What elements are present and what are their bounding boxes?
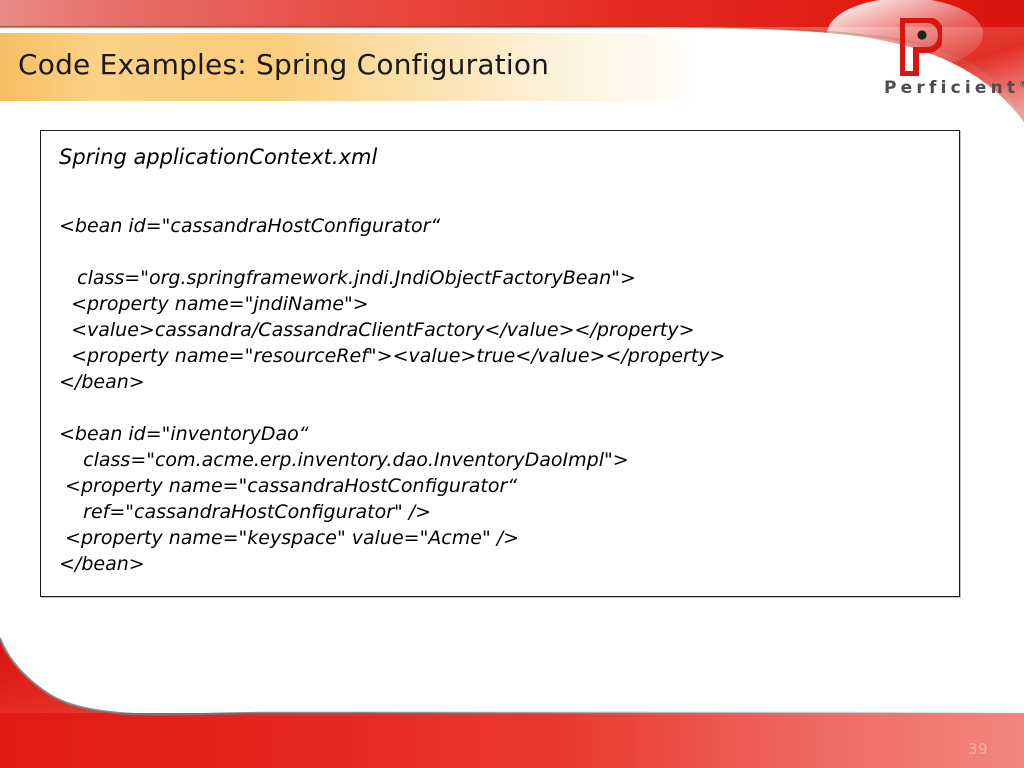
code-line: </bean> — [59, 551, 945, 577]
logo-wordmark-text: Perficient — [884, 78, 1019, 98]
code-box-heading: Spring applicationContext.xml — [59, 145, 945, 169]
page-number: 39 — [968, 740, 988, 758]
logo-wordmark: Perficient® — [884, 78, 1006, 98]
code-box-inner: Spring applicationContext.xml <bean id="… — [41, 131, 959, 596]
code-line — [59, 395, 945, 421]
code-line: <property name="resourceRef"><value>true… — [59, 343, 945, 369]
code-line: <property name="keyspace" value="Acme" /… — [59, 525, 945, 551]
code-line: class="org.springframework.jndi.JndiObje… — [59, 265, 945, 291]
code-line: <bean id="cassandraHostConfigurator“ — [59, 213, 945, 239]
bottom-decoration: 39 — [0, 623, 1024, 768]
logo-trademark: ® — [1019, 79, 1024, 88]
code-line: <property name="cassandraHostConfigurato… — [59, 473, 945, 499]
code-line: <property name="jndiName"> — [59, 291, 945, 317]
code-line: class="com.acme.erp.inventory.dao.Invent… — [59, 447, 945, 473]
code-line — [59, 239, 945, 265]
code-line: </bean> — [59, 369, 945, 395]
code-line: <bean id="inventoryDao“ — [59, 421, 945, 447]
page-title: Code Examples: Spring Configuration — [18, 48, 678, 81]
perficient-logo: Perficient® — [884, 18, 1006, 108]
code-line: <value>cassandra/CassandraClientFactory<… — [59, 317, 945, 343]
logo-p-icon — [900, 18, 942, 76]
slide-canvas: Code Examples: Spring Configuration Perf… — [0, 0, 1024, 768]
code-example-box: Spring applicationContext.xml <bean id="… — [40, 130, 960, 597]
code-line: ref="cassandraHostConfigurator" /> — [59, 499, 945, 525]
code-lines: <bean id="cassandraHostConfigurator“ cla… — [55, 213, 945, 577]
